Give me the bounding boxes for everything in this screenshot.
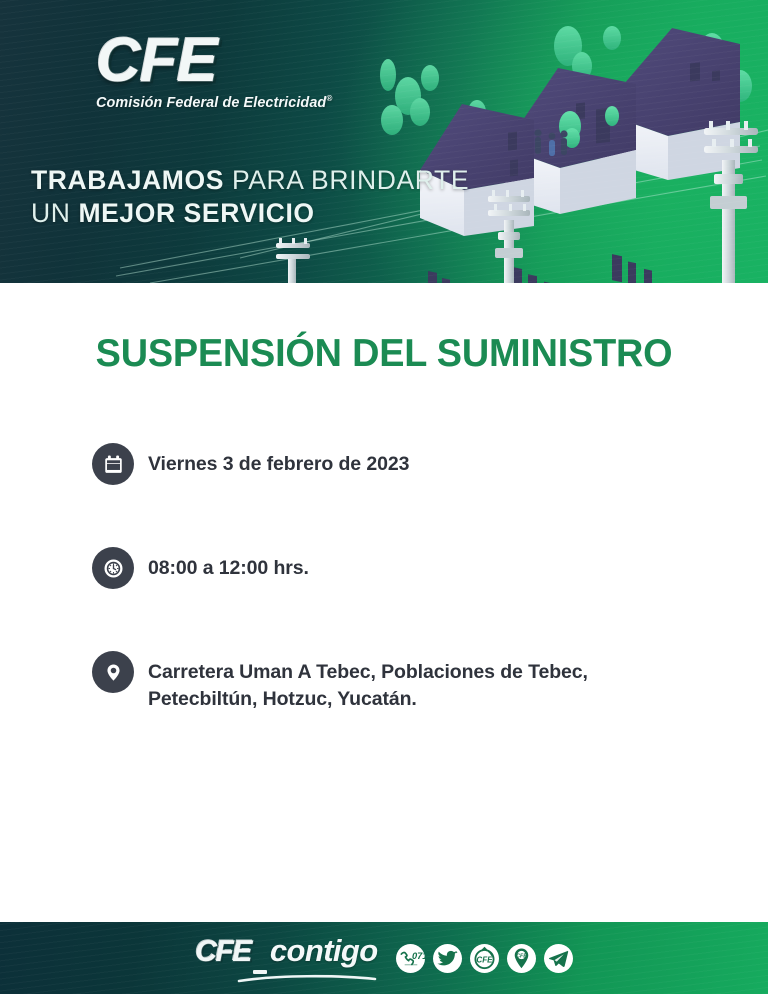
map-pin-icon-glyph	[102, 661, 125, 684]
page-title: SUSPENSIÓN DEL SUMINISTRO	[12, 332, 757, 376]
social-links: 071 CFE	[396, 944, 573, 973]
telegram-icon[interactable]	[544, 944, 573, 973]
cfe-logo-subtitle: Comisión Federal de Electricidad®	[96, 94, 396, 111]
phone-071-icon-glyph: 071	[396, 944, 425, 973]
calendar-icon-glyph	[102, 453, 125, 476]
cfe-app-icon-glyph: CFE	[470, 944, 499, 973]
date-value: Viernes 3 de febrero de 2023	[148, 453, 409, 475]
details-list: Viernes 3 de febrero de 2023	[92, 447, 702, 713]
detail-row-time: 08:00 a 12:00 hrs.	[92, 551, 702, 589]
time-value: 08:00 a 12:00 hrs.	[148, 557, 309, 579]
phone-071-icon[interactable]: 071	[396, 944, 425, 973]
tagline-bold-2: MEJOR SERVICIO	[78, 198, 314, 228]
detail-row-date-text: Viernes 3 de febrero de 2023	[148, 447, 409, 478]
utility-pole-left	[276, 238, 310, 283]
cfe-contigo-swoosh	[237, 974, 377, 983]
tagline-line-1: TRABAJAMOS PARA BRINDARTE	[31, 164, 469, 197]
detail-row-time-text: 08:00 a 12:00 hrs.	[148, 551, 309, 582]
people-figures	[534, 129, 567, 156]
tagline-light-1: PARA BRINDARTE	[232, 165, 469, 195]
footer-bar: CFE contigo 071	[0, 922, 768, 994]
location-badge-icon[interactable]: CFE	[507, 944, 536, 973]
cfe-logo: CFE Comisión Federal de Electricidad®	[96, 30, 396, 111]
calendar-icon	[92, 443, 134, 485]
tagline-light-2: UN	[31, 198, 70, 228]
cfe-contigo-cfe-text: CFE	[195, 937, 251, 967]
clock-icon	[92, 547, 134, 589]
location-line-2: Petecbiltún, Hotzuc, Yucatán.	[148, 686, 588, 713]
location-line-1: Carretera Uman A Tebec, Poblaciones de T…	[148, 661, 588, 683]
detail-row-location: Carretera Uman A Tebec, Poblaciones de T…	[92, 655, 702, 713]
detail-row-location-text: Carretera Uman A Tebec, Poblaciones de T…	[148, 655, 588, 713]
header-glow	[338, 0, 768, 283]
tagline-line-2: UN MEJOR SERVICIO	[31, 197, 469, 230]
detail-row-date: Viernes 3 de febrero de 2023	[92, 447, 702, 485]
cfe-logo-subtitle-text: Comisión Federal de Electricidad	[96, 95, 326, 111]
tagline-bold-1: TRABAJAMOS	[31, 165, 224, 195]
map-pin-icon	[92, 651, 134, 693]
svg-text:071: 071	[412, 951, 425, 961]
utility-pole-middle	[488, 190, 530, 283]
cfe-logo-wordmark: CFE	[96, 30, 396, 92]
registered-mark: ®	[326, 94, 332, 103]
telegram-icon-glyph	[544, 944, 573, 973]
cfe-contigo-word-text: contigo	[270, 935, 378, 966]
cfe-contigo-logo: CFE contigo	[195, 935, 377, 981]
twitter-icon-glyph	[433, 944, 462, 973]
cfe-app-icon[interactable]: CFE	[470, 944, 499, 973]
location-badge-icon-glyph: CFE	[507, 944, 536, 973]
svg-text:CFE: CFE	[516, 953, 527, 959]
clock-icon-glyph	[102, 557, 125, 580]
header-banner: CFE Comisión Federal de Electricidad® TR…	[0, 0, 768, 283]
utility-pole-right	[704, 121, 758, 283]
twitter-icon[interactable]	[433, 944, 462, 973]
cfe-suspension-notice: CFE Comisión Federal de Electricidad® TR…	[0, 0, 768, 994]
svg-text:CFE: CFE	[476, 955, 493, 964]
main-content: SUSPENSIÓN DEL SUMINISTRO Viernes 3 de f…	[0, 283, 768, 922]
header-tagline: TRABAJAMOS PARA BRINDARTE UN MEJOR SERVI…	[31, 164, 469, 230]
